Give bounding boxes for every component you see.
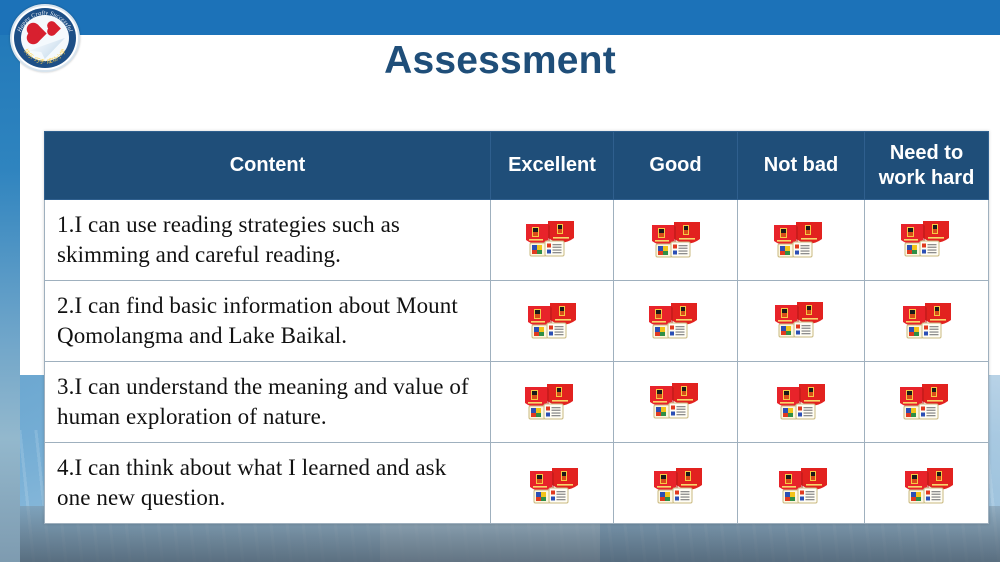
stamp-icon — [528, 465, 580, 505]
slide-canvas: Happy Crafty Successful 快乐·巧手·成功小学 Asses… — [0, 0, 1000, 562]
table-header-row: Content Excellent Good Not bad Need to w… — [45, 132, 989, 200]
stamp-icon — [901, 300, 953, 340]
table-row: 1.I can use reading strategies such as s… — [45, 200, 989, 281]
page-title: Assessment — [0, 35, 1000, 87]
stamp-icon — [903, 465, 955, 505]
table-row: 2.I can find basic information about Mou… — [45, 281, 989, 362]
stamp-icon — [523, 381, 575, 421]
mark-cell-row3-good[interactable] — [614, 362, 738, 443]
column-header-excellent: Excellent — [491, 132, 614, 200]
mark-cell-row1-excellent[interactable] — [491, 200, 614, 281]
assessment-table: Content Excellent Good Not bad Need to w… — [44, 131, 989, 524]
mark-cell-row4-need[interactable] — [865, 443, 989, 524]
mark-cell-row1-need[interactable] — [865, 200, 989, 281]
column-header-good: Good — [614, 132, 738, 200]
row-content-2: 2.I can find basic information about Mou… — [45, 281, 491, 362]
mark-cell-row4-excellent[interactable] — [491, 443, 614, 524]
stamp-icon — [772, 219, 824, 259]
stamp-icon — [775, 381, 827, 421]
column-header-need-line1: Need to — [890, 142, 963, 164]
row-content-4: 4.I can think about what I learned and a… — [45, 443, 491, 524]
column-header-need-to-work-hard: Need to work hard — [865, 132, 989, 200]
table-row: 3.I can understand the meaning and value… — [45, 362, 989, 443]
mark-cell-row3-need[interactable] — [865, 362, 989, 443]
column-header-content: Content — [45, 132, 491, 200]
stamp-icon — [773, 299, 825, 339]
mark-cell-row3-excellent[interactable] — [491, 362, 614, 443]
mark-cell-row2-notbad[interactable] — [738, 281, 865, 362]
column-header-need-line2: work hard — [879, 167, 975, 189]
assessment-table-wrapper: Content Excellent Good Not bad Need to w… — [44, 131, 988, 524]
logo-arc-text-top: Happy Crafty Successful — [17, 9, 74, 34]
table-header: Content Excellent Good Not bad Need to w… — [45, 132, 989, 200]
table-body: 1.I can use reading strategies such as s… — [45, 200, 989, 524]
mark-cell-row1-good[interactable] — [614, 200, 738, 281]
stamp-icon — [647, 300, 699, 340]
mark-cell-row2-need[interactable] — [865, 281, 989, 362]
column-header-not-bad: Not bad — [738, 132, 865, 200]
mark-cell-row3-notbad[interactable] — [738, 362, 865, 443]
mark-cell-row2-excellent[interactable] — [491, 281, 614, 362]
mark-cell-row2-good[interactable] — [614, 281, 738, 362]
stamp-icon — [652, 465, 704, 505]
stamp-icon — [648, 380, 700, 420]
mark-cell-row4-notbad[interactable] — [738, 443, 865, 524]
row-content-1: 1.I can use reading strategies such as s… — [45, 200, 491, 281]
stamp-icon — [899, 218, 951, 258]
row-content-3: 3.I can understand the meaning and value… — [45, 362, 491, 443]
stamp-icon — [650, 219, 702, 259]
table-row: 4.I can think about what I learned and a… — [45, 443, 989, 524]
stamp-icon — [524, 218, 576, 258]
top-banner-bar — [0, 0, 1000, 35]
stamp-icon — [526, 300, 578, 340]
mark-cell-row4-good[interactable] — [614, 443, 738, 524]
stamp-icon — [898, 381, 950, 421]
mark-cell-row1-notbad[interactable] — [738, 200, 865, 281]
stamp-icon — [777, 465, 829, 505]
